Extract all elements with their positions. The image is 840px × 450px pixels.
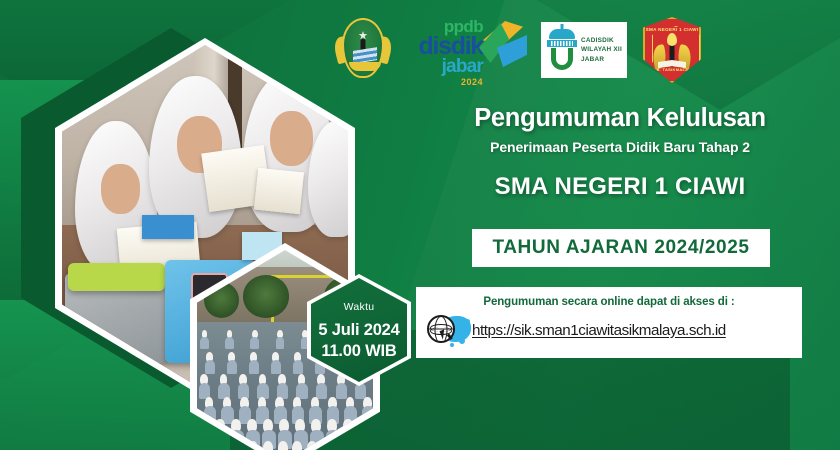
cadisdik-logo: CADISDIK WILAYAH XII JABAR (541, 22, 627, 78)
cadisdik-gedung-sate-icon (547, 28, 577, 72)
ppdb-line4: 2024 (405, 77, 483, 87)
school-logo-top-text: SMA NEGERI 1 CIAWI (645, 27, 699, 32)
waktu-time: 11.00 WIB (321, 341, 396, 362)
jabar-emblem-icon (335, 15, 391, 85)
school-name: SMA NEGERI 1 CIAWI (418, 173, 822, 201)
waktu-date: 5 Juli 2024 (318, 320, 399, 341)
academic-year-badge: TAHUN AJARAN 2024/2025 (472, 229, 770, 267)
ppdb-cube-icon (479, 21, 527, 75)
globe-cursor-icon (424, 310, 470, 350)
waktu-label: Waktu (344, 301, 375, 313)
ppdb-line3: jabar (405, 58, 483, 76)
online-access-panel: Pengumuman secara online dapat di akses … (416, 287, 802, 358)
cadisdik-line3: JABAR (581, 55, 622, 64)
academic-year-label: TAHUN AJARAN 2024/2025 (492, 237, 749, 259)
logo-strip: ppdb disdik jabar 2024 CADISDIK WILAYAH … (335, 12, 715, 88)
school-logo-bottom-text: KAB. TASIKMALAYA (645, 67, 699, 72)
announcement-poster: Waktu 5 Juli 2024 11.00 WIB ppdb disdik … (0, 0, 840, 450)
cadisdik-line2: WILAYAH XII (581, 45, 622, 54)
ppdb-line2: disdik (405, 35, 483, 58)
page-title: Pengumuman Kelulusan (418, 104, 822, 132)
page-subtitle: Penerimaan Peserta Didik Baru Tahap 2 (418, 139, 822, 155)
online-access-heading: Pengumuman secara online dapat di akses … (416, 287, 802, 308)
headline-block: Pengumuman Kelulusan Penerimaan Peserta … (418, 104, 822, 201)
ppdb-disdik-jabar-logo: ppdb disdik jabar 2024 (405, 13, 527, 87)
date-time-badge: Waktu 5 Juli 2024 11.00 WIB (307, 274, 411, 386)
cadisdik-line1: CADISDIK (581, 36, 622, 45)
sma-negeri-1-ciawi-logo: SMA NEGERI 1 CIAWI KAB. TASIKMALAYA (641, 15, 703, 85)
announcement-url-link[interactable]: https://sik.sman1ciawitasikmalaya.sch.id (472, 322, 726, 339)
